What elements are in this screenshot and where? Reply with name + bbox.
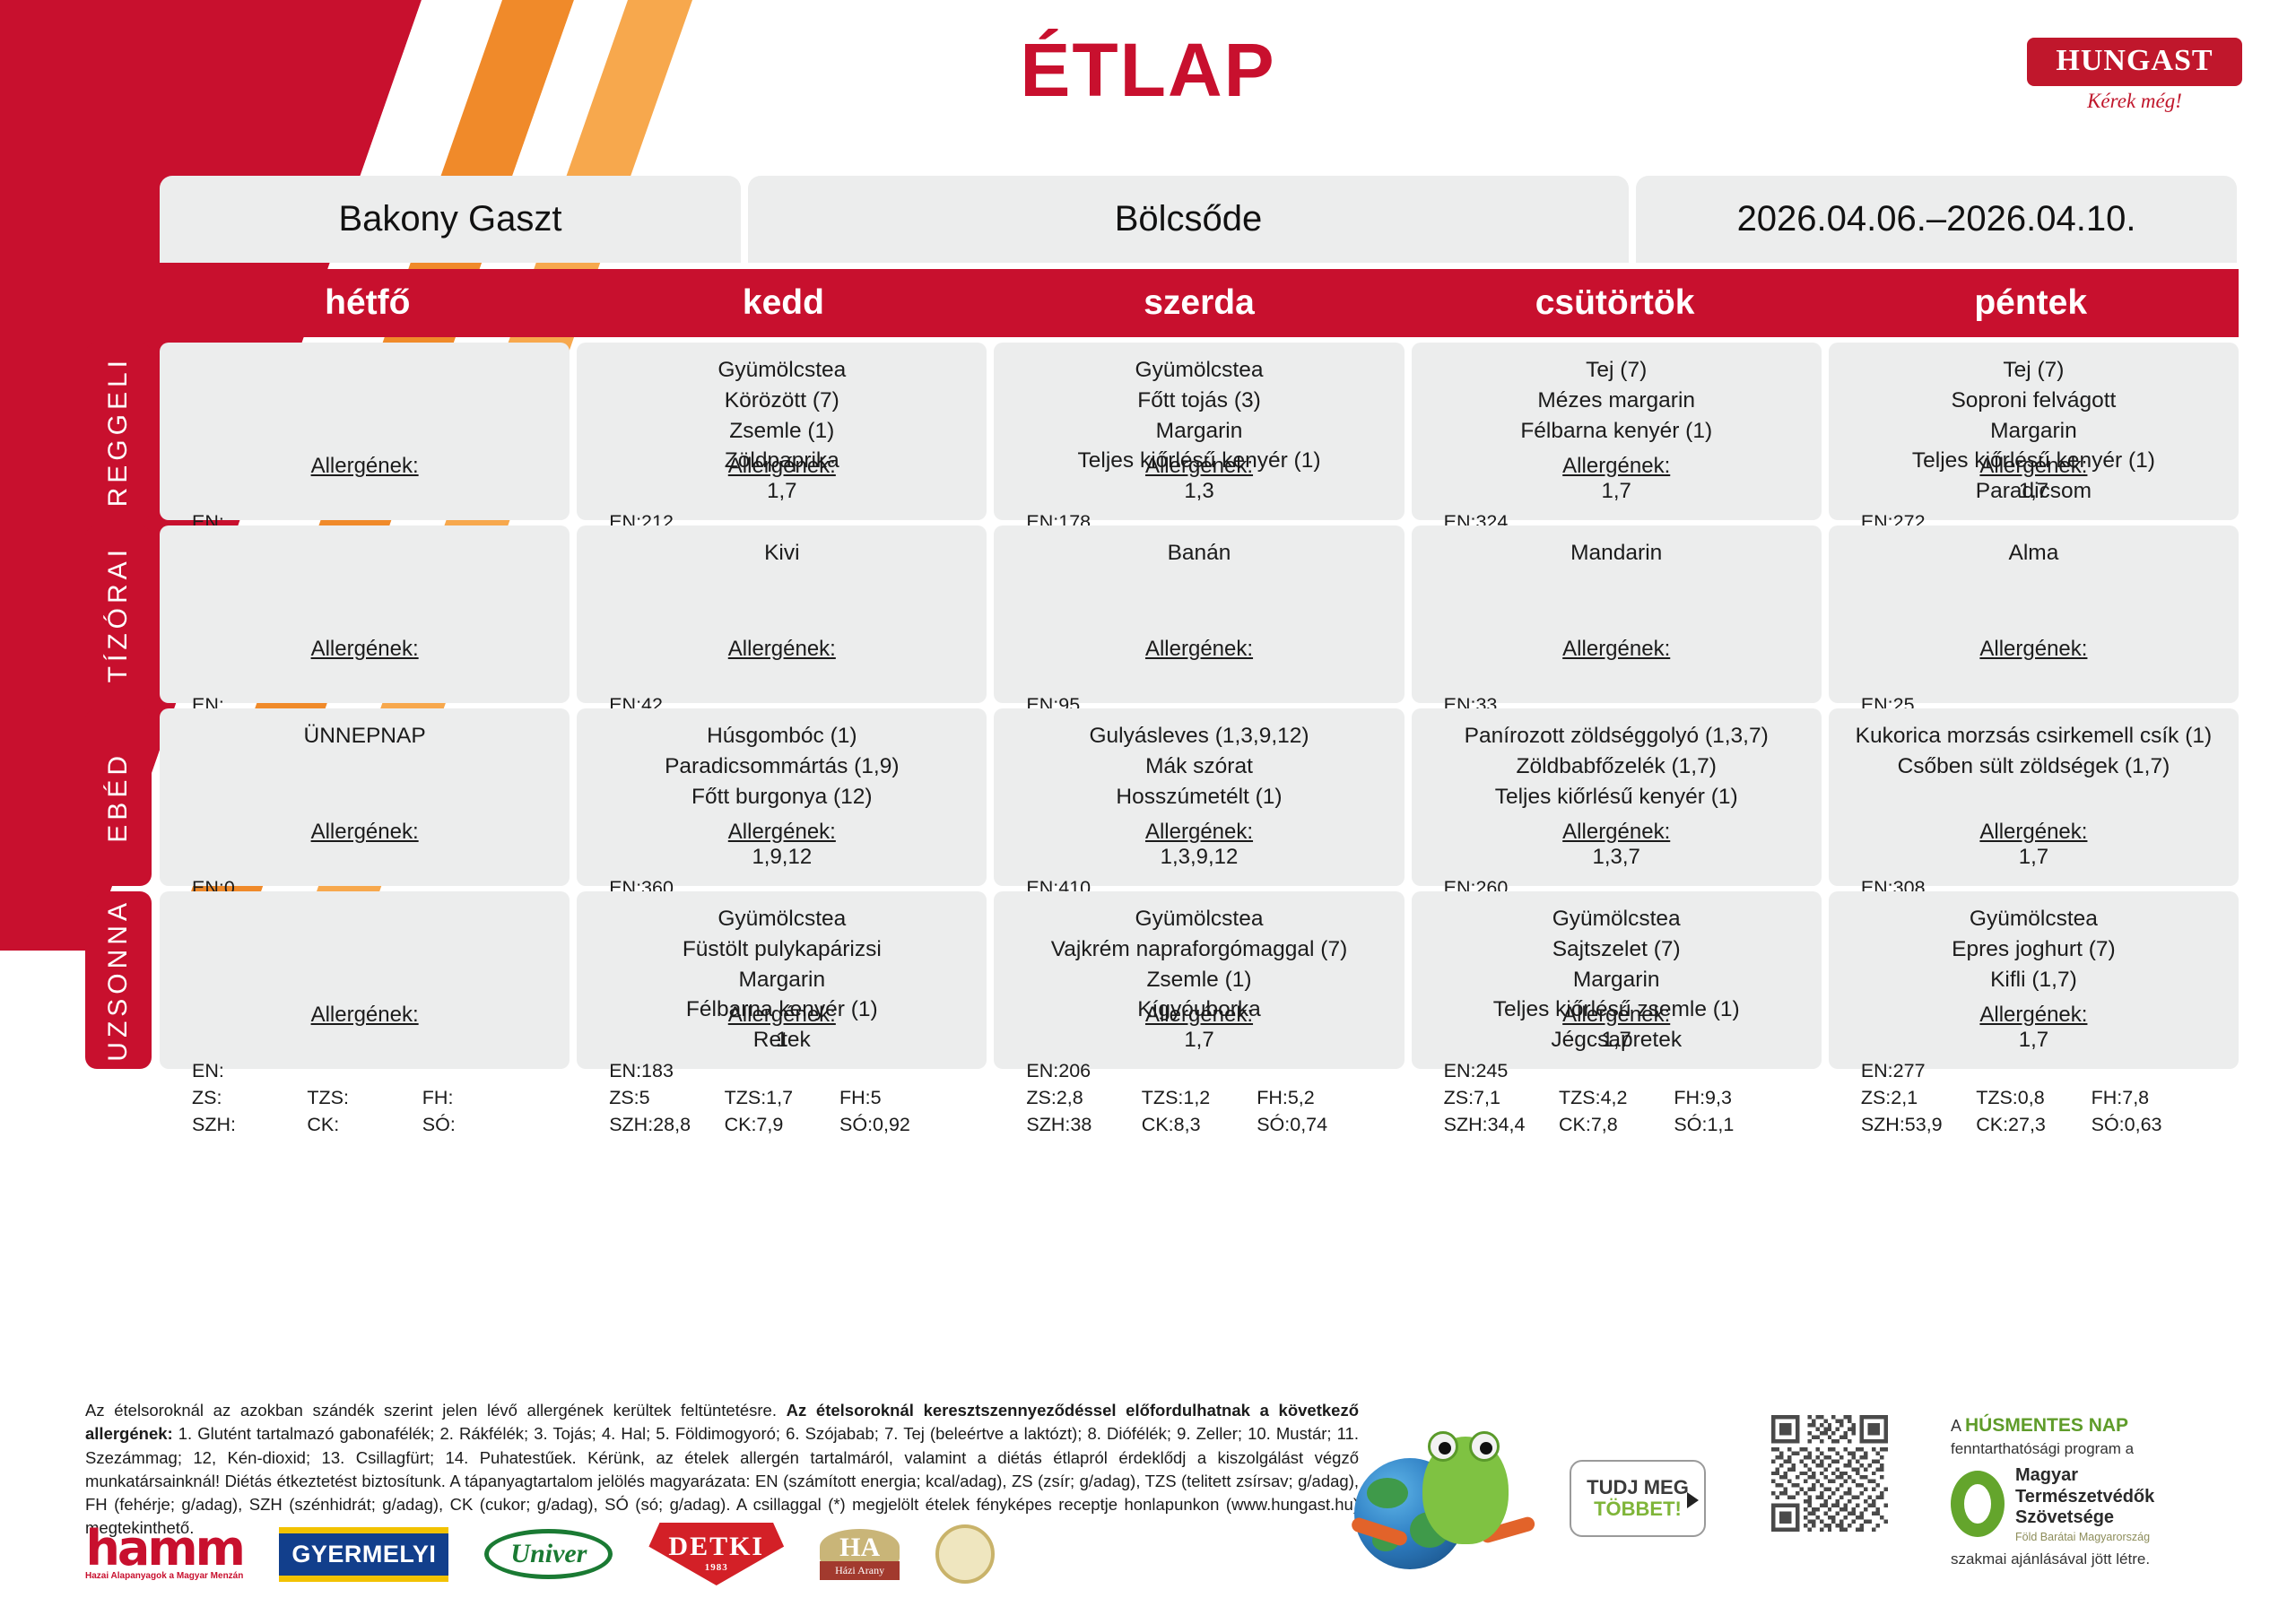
menu-cell: Kukorica morzsás csirkemell csík (1)Csőb… [1829,708,2239,886]
dish-list: Kukorica morzsás csirkemell csík (1)Csőb… [1838,721,2230,820]
dish-item: Körözött (7) [586,386,978,416]
hamm-tagline: Hazai Alapanyagok a Magyar Menzán [85,1571,243,1581]
menu-cell: Mandarin Allergének: EN:33 ZS:0TZS:0FH:0… [1412,525,1822,703]
nutri-en: EN:277 [1861,1060,1976,1082]
nutri-zs: ZS:2,1 [1861,1087,1976,1109]
page-title: ÉTLAP [0,27,2296,114]
allergen-block: Allergének: [1421,637,1813,689]
dish-item: Kifli (1,7) [1838,965,2230,995]
husmentes-subline: fenntarthatósági program a [1951,1440,2247,1458]
dish-list: Banán [1003,538,1395,637]
hamm-logo: hamm Hazai Alapanyagok a Magyar Menzán [85,1520,243,1588]
husmentes-prefix: A [1951,1417,1965,1435]
meal-cells-ebed: ÜNNEPNAP Allergének: EN:0 ZS:TZS:FH: SZH… [160,708,2239,886]
qr-code-svg [1771,1415,1888,1532]
tab-date-range: 2026.04.06.–2026.04.10. [1636,176,2237,263]
nutri-szh: SZH:53,9 [1861,1114,1976,1136]
allergen-label: Allergének: [1421,454,1813,479]
dish-list: Panírozott zöldséggolyó (1,3,7)Zöldbabfő… [1421,721,1813,820]
allergen-values: 1 [586,1028,978,1055]
allergen-block: Allergének: [169,1003,561,1055]
dish-item: Margarin [586,965,978,995]
dish-item: Félbarna kenyér (1) [1421,416,1813,447]
allergen-label: Allergének: [1838,820,2230,845]
gold-seal-logo [935,1520,995,1588]
allergen-label: Allergének: [1003,637,1395,662]
allergen-values: 1,3,9,12 [1003,845,1395,872]
menu-cell: Banán Allergének: EN:95 ZS:0TZS:0FH:1,2 … [994,525,1404,703]
dish-list: ÜNNEPNAP [169,721,561,820]
husmentes-headline: A HÚSMENTES NAP [1951,1415,2247,1437]
dish-item: Gulyásleves (1,3,9,12) [1003,721,1395,751]
allergen-block: Allergének: 1,7 [1838,1003,2230,1055]
allergen-label: Allergének: [1838,454,2230,479]
frog-eye-icon [1428,1431,1458,1462]
nutri-en: EN:183 [609,1060,724,1082]
nutri-fh: FH:7,8 [2092,1087,2206,1109]
allergen-label: Allergének: [1838,1003,2230,1028]
allergen-values [586,662,978,689]
allergen-label: Allergének: [1421,637,1813,662]
nutri-ck: CK:27,3 [1976,1114,2091,1136]
univer-wordmark: Univer [484,1529,613,1579]
sponsor-logos: hamm Hazai Alapanyagok a Magyar Menzán G… [85,1515,1036,1593]
allergen-block: Allergének: 1,3,9,12 [1003,820,1395,872]
menu-cell: GyümölcsteaSajtszelet (7)MargarinTeljes … [1412,891,1822,1069]
hamm-wordmark: hamm [85,1527,243,1571]
nutri-fh: FH:5,2 [1257,1087,1371,1109]
menu-cell: GyümölcsteaKörözött (7)Zsemle (1)Zöldpap… [577,343,987,520]
husmentes-bold: HÚSMENTES NAP [1965,1415,2128,1436]
univer-logo: Univer [484,1520,613,1588]
qr-code[interactable] [1771,1415,1888,1532]
dish-list [169,904,561,1003]
dish-item: Mandarin [1421,538,1813,569]
header-tabs: Bakony Gaszt Bölcsőde 2026.04.06.–2026.0… [160,176,2239,263]
dish-list: Húsgombóc (1)Paradicsommártás (1,9)Főtt … [586,721,978,820]
menu-cell: Húsgombóc (1)Paradicsommártás (1,9)Főtt … [577,708,987,886]
hazi-arany-logo: HA Házi Arany [820,1520,900,1588]
nutri-en: EN:245 [1444,1060,1559,1082]
menu-cell: Allergének: EN: ZS:TZS:FH: SZH:CK:SÓ: [160,891,570,1069]
dish-item: Kukorica morzsás csirkemell csík (1) [1838,721,2230,751]
menu-cell: Kivi Allergének: EN:42 ZS:0TZS:0FH:0,8 S… [577,525,987,703]
menu-cell: Tej (7)Soproni felvágottMargarinTeljes k… [1829,343,2239,520]
dish-list: GyümölcsteaEpres joghurt (7)Kifli (1,7) [1838,904,2230,1003]
gyermelyi-logo: GYERMELYI [279,1520,448,1588]
nutri-zs: ZS:5 [609,1087,724,1109]
mtvsz-logo: Magyar Természetvédők Szövetsége Föld Ba… [1951,1465,2247,1543]
allergen-block: Allergének: [169,637,561,689]
meal-label-reggeli: REGGELI [85,343,152,520]
dish-list: GyümölcsteaFőtt tojás (3)MargarinTeljes … [1003,355,1395,454]
dish-list: Tej (7)Mézes margarinFélbarna kenyér (1) [1421,355,1813,454]
learn-more-line2: TÖBBET! [1594,1498,1682,1520]
dish-list: GyümölcsteaVajkrém napraforgómaggal (7)Z… [1003,904,1395,1003]
tab-unit-name: Bakony Gaszt [160,176,741,263]
nutri-tzs: TZS:1,7 [725,1087,839,1109]
menu-cell: ÜNNEPNAP Allergének: EN:0 ZS:TZS:FH: SZH… [160,708,570,886]
allergen-label: Allergének: [1003,454,1395,479]
allergen-values: 1,3 [1003,479,1395,506]
hungast-slogan: Kérek még! [2027,90,2242,113]
day-header-tuesday: kedd [576,269,992,337]
frog-eye-icon [1469,1431,1500,1462]
dish-list: GyümölcsteaFüstölt pulykapárizsiMargarin… [586,904,978,1003]
nutri-tzs: TZS: [307,1087,422,1109]
allergen-block: Allergének: 1,7 [1003,1003,1395,1055]
meal-label-text: REGGELI [103,356,134,507]
dish-item: Mézes margarin [1421,386,1813,416]
nutri-ck: CK: [307,1114,422,1136]
dish-item: Zöldbabfőzelék (1,7) [1421,751,1813,782]
menu-cell: GyümölcsteaFüstölt pulykapárizsiMargarin… [577,891,987,1069]
dish-item: Margarin [1421,965,1813,995]
nutri-fh: FH:9,3 [1674,1087,1788,1109]
dish-item: Gyümölcstea [1003,904,1395,934]
nutri-so: SÓ:0,74 [1257,1114,1371,1136]
dish-item: Húsgombóc (1) [586,721,978,751]
mtvsz-subname: Föld Barátai Magyarország [2015,1531,2154,1543]
allergen-block: Allergének: 1,9,12 [586,820,978,872]
menu-cell: Allergének: EN: ZS:TZS:FH: SZH:CK:SÓ: [160,525,570,703]
allergen-values: 1,9,12 [586,845,978,872]
nutri-tzs: TZS:0,8 [1976,1087,2091,1109]
dish-item: Zsemle (1) [586,416,978,447]
detki-wordmark: DETKI 1983 [648,1523,784,1585]
allergen-label: Allergének: [1838,637,2230,662]
allergen-block: Allergének: 1,7 [586,454,978,506]
dish-list: Tej (7)Soproni felvágottMargarinTeljes k… [1838,355,2230,454]
dish-item: Gyümölcstea [1421,904,1813,934]
dish-item: Csőben sült zöldségek (1,7) [1838,751,2230,782]
allergen-values: 1,7 [586,479,978,506]
allergen-values: 1,7 [1838,845,2230,872]
nutrition-grid: EN:183 ZS:5TZS:1,7FH:5 SZH:28,8CK:7,9SÓ:… [586,1055,978,1145]
allergen-values [1421,662,1813,689]
day-header-monday: hétfő [160,269,576,337]
nutri-tzs: TZS:4,2 [1559,1087,1674,1109]
allergen-block: Allergének: [169,820,561,872]
allergen-values: 1,7 [1003,1028,1395,1055]
disclaimer-part1: Az ételsoroknál az azokban szándék szeri… [85,1401,787,1420]
allergen-values: 1,3,7 [1421,845,1813,872]
allergen-block: Allergének: 1 [586,1003,978,1055]
nutri-tzs: TZS:1,2 [1142,1087,1257,1109]
mtvsz-name: Magyar Természetvédők Szövetsége [2015,1465,2154,1529]
meal-row-uzsonna: UZSONNA Allergének: EN: ZS:TZS:FH: SZH:C… [85,891,2239,1069]
allergen-values [169,479,561,506]
husmentes-nap-block: A HÚSMENTES NAP fenntarthatósági program… [1951,1415,2247,1568]
gyermelyi-wordmark: GYERMELYI [279,1527,448,1582]
allergen-values [169,845,561,872]
nutri-szh: SZH: [192,1114,307,1136]
dish-item: Sajtszelet (7) [1421,934,1813,965]
dish-list [169,538,561,637]
dish-item: Paradicsommártás (1,9) [586,751,978,782]
nutri-en: EN:206 [1026,1060,1141,1082]
dish-list: Mandarin [1421,538,1813,637]
nutri-zs: ZS:7,1 [1444,1087,1559,1109]
meal-row-reggeli: REGGELI Allergének: EN: ZS:TZS:FH: SZH:C… [85,343,2239,520]
nutri-so: SÓ:1,1 [1674,1114,1788,1136]
allergen-label: Allergének: [169,820,561,845]
dish-item: Tej (7) [1838,355,2230,386]
seal-icon [935,1524,995,1584]
allergen-block: Allergének: [169,454,561,506]
detki-text: DETKI [668,1532,764,1561]
nutrition-grid: EN:245 ZS:7,1TZS:4,2FH:9,3 SZH:34,4CK:7,… [1421,1055,1813,1145]
dish-item: Soproni felvágott [1838,386,2230,416]
nutri-so: SÓ: [422,1114,537,1136]
nutri-fh: FH: [422,1087,537,1109]
dish-item: ÜNNEPNAP [169,721,561,751]
dish-item: Hosszúmetélt (1) [1003,782,1395,812]
allergen-block: Allergének: 1,7 [1421,1003,1813,1055]
frog-earth-mascot [1345,1417,1561,1596]
allergen-label: Allergének: [586,820,978,845]
nutrition-grid: EN:277 ZS:2,1TZS:0,8FH:7,8 SZH:53,9CK:27… [1838,1055,2230,1145]
dish-item: Tej (7) [1421,355,1813,386]
meal-label-text: TÍZÓRAI [103,545,134,682]
dish-item: Alma [1838,538,2230,569]
nutri-ck: CK:8,3 [1142,1114,1257,1136]
meal-label-ebed: EBÉD [85,708,152,886]
allergen-label: Allergének: [586,637,978,662]
dish-list: Gulyásleves (1,3,9,12)Mák szóratHosszúme… [1003,721,1395,820]
dish-list: Alma [1838,538,2230,637]
allergen-block: Allergének: 1,3 [1003,454,1395,506]
menu-cell: GyümölcsteaEpres joghurt (7)Kifli (1,7) … [1829,891,2239,1069]
allergen-values: 1,7 [1421,1028,1813,1055]
menu-cell: Gulyásleves (1,3,9,12)Mák szóratHosszúme… [994,708,1404,886]
dish-item: Füstölt pulykapárizsi [586,934,978,965]
day-header-row: hétfő kedd szerda csütörtök péntek [160,269,2239,337]
allergen-values: 1,7 [1838,479,2230,506]
meal-row-tizorai: TÍZÓRAI Allergének: EN: ZS:TZS:FH: SZH:C… [85,525,2239,703]
allergen-values [1838,662,2230,689]
day-header-wednesday: szerda [991,269,1407,337]
dish-item: Banán [1003,538,1395,569]
tab-institution-type: Bölcsőde [748,176,1629,263]
nutri-ck: CK:7,9 [725,1114,839,1136]
menu-cell: Allergének: EN: ZS:TZS:FH: SZH:CK:SÓ: [160,343,570,520]
learn-more-button[interactable]: TUDJ MEG TÖBBET! [1570,1460,1706,1537]
allergen-values: 1,7 [1421,479,1813,506]
dish-list: GyümölcsteaSajtszelet (7)MargarinTeljes … [1421,904,1813,1003]
allergen-label: Allergének: [169,637,561,662]
dish-item: Gyümölcstea [586,904,978,934]
allergen-block: Allergének: [586,637,978,689]
detki-year: 1983 [668,1562,764,1573]
allergen-label: Allergének: [586,1003,978,1028]
dish-item: Panírozott zöldséggolyó (1,3,7) [1421,721,1813,751]
meal-label-uzsonna: UZSONNA [85,891,152,1069]
dish-item: Mák szórat [1003,751,1395,782]
nutri-en: EN: [192,1060,307,1082]
nutri-fh: FH:5 [839,1087,954,1109]
nutri-zs: ZS: [192,1087,307,1109]
allergen-values [169,1028,561,1055]
learn-more-line1: TUDJ MEG [1587,1477,1689,1498]
dish-item: Margarin [1838,416,2230,447]
allergen-block: Allergének: 1,7 [1421,454,1813,506]
etlap-page: ÉTLAP HUNGAST Kérek még! Bakony Gaszt Bö… [0,0,2296,1624]
allergen-label: Allergének: [169,1003,561,1028]
hazi-arany-ribbon: Házi Arany [820,1561,900,1580]
hungast-wordmark: HUNGAST [2027,38,2242,86]
dish-list [169,355,561,454]
nutri-szh: SZH:28,8 [609,1114,724,1136]
nutrition-grid: EN:206 ZS:2,8TZS:1,2FH:5,2 SZH:38CK:8,3S… [1003,1055,1395,1145]
dish-item: Zsemle (1) [1003,965,1395,995]
play-arrow-icon [1687,1492,1699,1508]
allergen-label: Allergének: [1003,820,1395,845]
nutri-zs: ZS:2,8 [1026,1087,1141,1109]
meal-label-text: UZSONNA [103,899,134,1062]
allergen-block: Allergének: [1838,637,2230,689]
meal-cells-reggeli: Allergének: EN: ZS:TZS:FH: SZH:CK:SÓ: Gy… [160,343,2239,520]
hazi-arany-monogram: HA [820,1529,900,1565]
allergen-label: Allergének: [586,454,978,479]
nutri-szh: SZH:38 [1026,1114,1141,1136]
dish-item: Főtt burgonya (12) [586,782,978,812]
dish-item: Kivi [586,538,978,569]
dish-item: Margarin [1003,416,1395,447]
allergen-label: Allergének: [1421,1003,1813,1028]
allergen-block: Allergének: 1,3,7 [1421,820,1813,872]
allergen-label: Allergének: [1003,1003,1395,1028]
allergen-block: Allergének: [1003,637,1395,689]
day-header-thursday: csütörtök [1407,269,1823,337]
meal-label-text: EBÉD [103,751,134,843]
nutri-so: SÓ:0,63 [2092,1114,2206,1136]
dish-list: Kivi [586,538,978,637]
nutri-ck: CK:7,8 [1559,1114,1674,1136]
dish-list: GyümölcsteaKörözött (7)Zsemle (1)Zöldpap… [586,355,978,454]
dish-item: Teljes kiőrlésű kenyér (1) [1421,782,1813,812]
dish-item: Gyümölcstea [586,355,978,386]
dish-item: Gyümölcstea [1003,355,1395,386]
dish-item: Gyümölcstea [1838,904,2230,934]
allergen-values: 1,7 [1838,1028,2230,1055]
hungast-logo: HUNGAST Kérek még! [2027,38,2242,113]
nutri-so: SÓ:0,92 [839,1114,954,1136]
meal-row-ebed: EBÉD ÜNNEPNAP Allergének: EN:0 ZS:TZS:FH… [85,708,2239,886]
husmentes-footer-line: szakmai ajánlásával jött létre. [1951,1550,2247,1568]
nutri-szh: SZH:34,4 [1444,1114,1559,1136]
meal-cells-tizorai: Allergének: EN: ZS:TZS:FH: SZH:CK:SÓ: Ki… [160,525,2239,703]
allergen-label: Allergének: [169,454,561,479]
menu-cell: GyümölcsteaFőtt tojás (3)MargarinTeljes … [994,343,1404,520]
allergen-block: Allergének: 1,7 [1838,820,2230,872]
allergen-block: Allergének: 1,7 [1838,454,2230,506]
menu-cell: GyümölcsteaVajkrém napraforgómaggal (7)Z… [994,891,1404,1069]
menu-cell: Tej (7)Mézes margarinFélbarna kenyér (1)… [1412,343,1822,520]
allergen-values [1003,662,1395,689]
detki-logo: DETKI 1983 [648,1520,784,1588]
allergen-label: Allergének: [1421,820,1813,845]
green-ring-icon [1951,1471,2005,1537]
dish-item: Főtt tojás (3) [1003,386,1395,416]
meal-cells-uzsonna: Allergének: EN: ZS:TZS:FH: SZH:CK:SÓ: Gy… [160,891,2239,1069]
menu-cell: Panírozott zöldséggolyó (1,3,7)Zöldbabfő… [1412,708,1822,886]
allergen-values [169,662,561,689]
menu-cell: Alma Allergének: EN:25 ZS:0TZS:0FH:0,3 S… [1829,525,2239,703]
nutrition-grid: EN: ZS:TZS:FH: SZH:CK:SÓ: [169,1055,561,1145]
dish-item: Epres joghurt (7) [1838,934,2230,965]
meal-label-tizorai: TÍZÓRAI [85,525,152,703]
dish-item: Vajkrém napraforgómaggal (7) [1003,934,1395,965]
day-header-friday: péntek [1822,269,2239,337]
